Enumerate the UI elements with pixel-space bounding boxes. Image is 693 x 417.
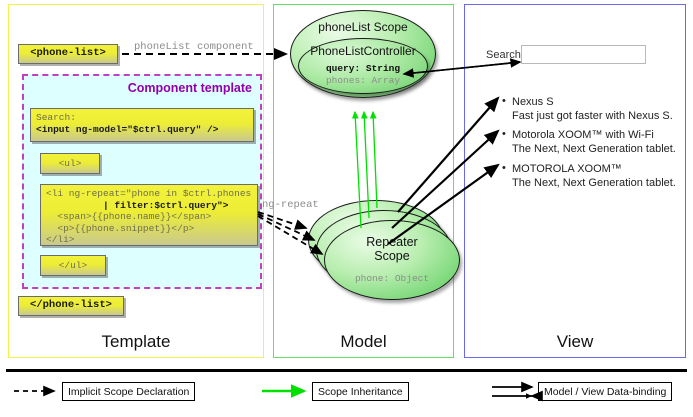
phonelist-scope-label: phoneList Scope	[291, 20, 435, 34]
repeater-scope-label-line-2: Scope	[374, 249, 409, 263]
ng-repeat-connector-label: ng-repeat	[262, 199, 319, 211]
panel-label-template: Template	[8, 326, 264, 358]
phone-bullet-0: •	[502, 95, 506, 107]
phone-name-0: Nexus S	[512, 96, 554, 108]
phone-list-item-2: MOTOROLA XOOM™The Next, Next Generation …	[512, 162, 676, 190]
view-search-input[interactable]	[521, 45, 646, 64]
input-code-line-1: Search:	[36, 112, 76, 123]
controller-property-query: query: String	[299, 63, 427, 74]
ul-open-tag: <ul>	[40, 153, 100, 174]
phone-name-2: MOTOROLA XOOM™	[512, 163, 622, 175]
phone-list-close-tag: </phone-list>	[18, 296, 124, 316]
phone-list-item-1: Motorola XOOM™ with Wi-FiThe Next, Next …	[512, 128, 676, 156]
li-code-line-5: </li>	[46, 234, 75, 245]
phone-snippet-0: Fast just got faster with Nexus S.	[512, 110, 673, 122]
input-code-line-2: <input ng-model="$ctrl.query" />	[36, 124, 218, 135]
ul-close-tag-text: </ul>	[59, 260, 88, 272]
panel-label-view: View	[464, 326, 686, 358]
phone-list-item-0: Nexus SFast just got faster with Nexus S…	[512, 95, 673, 123]
phone-list-open-tag: <phone-list>	[18, 44, 118, 64]
panel-label-model: Model	[273, 326, 454, 358]
phone-list-close-tag-text: </phone-list>	[30, 300, 112, 312]
repeater-scope-ellipse-1: RepeaterScope phone: Object	[324, 220, 460, 300]
view-search-label: Search:	[486, 49, 524, 61]
controller-property-phones: phones: Array	[299, 75, 427, 86]
input-code-block: Search: <input ng-model="$ctrl.query" />	[30, 108, 254, 142]
li-code-line-3: <span>{{phone.name}}</span>	[46, 211, 211, 222]
phone-list-open-tag-text: <phone-list>	[30, 48, 106, 60]
li-code-line-4: <p>{{phone.snippet}}</p>	[46, 223, 194, 234]
repeater-scope-label-line-1: Repeater	[366, 235, 417, 249]
li-code-line-2: | filter:$ctrl.query">	[46, 200, 228, 211]
li-code-block: <li ng-repeat="phone in $ctrl.phones | f…	[40, 184, 258, 246]
phone-bullet-1: •	[502, 128, 506, 140]
ul-close-tag: </ul>	[40, 255, 106, 276]
phone-snippet-1: The Next, Next Generation tablet.	[512, 143, 676, 155]
legend-glyph-model-view-data-binding	[492, 387, 532, 399]
repeater-scope-label: RepeaterScope	[325, 235, 459, 263]
legend-item-scope-inheritance: Scope Inheritance	[312, 382, 409, 401]
repeater-property-phone: phone: Object	[325, 273, 459, 284]
phone-bullet-2: •	[502, 162, 506, 174]
ul-open-tag-text: <ul>	[59, 158, 82, 170]
legend-divider	[6, 369, 687, 372]
phone-snippet-2: The Next, Next Generation tablet.	[512, 177, 676, 189]
phonelist-controller-ellipse: PhoneListController query: String phones…	[298, 38, 428, 94]
phone-name-1: Motorola XOOM™ with Wi-Fi	[512, 129, 654, 141]
phonelist-controller-label: PhoneListController	[299, 44, 427, 58]
phonelist-component-connector-label: phoneList component	[134, 41, 254, 53]
legend-item-model-view-data-binding: Model / View Data-binding	[538, 382, 672, 401]
li-code-line-1: <li ng-repeat="phone in $ctrl.phones	[46, 188, 251, 199]
legend-item-implicit-scope-declaration: Implicit Scope Declaration	[62, 382, 195, 401]
component-template-title: Component template	[128, 81, 252, 95]
